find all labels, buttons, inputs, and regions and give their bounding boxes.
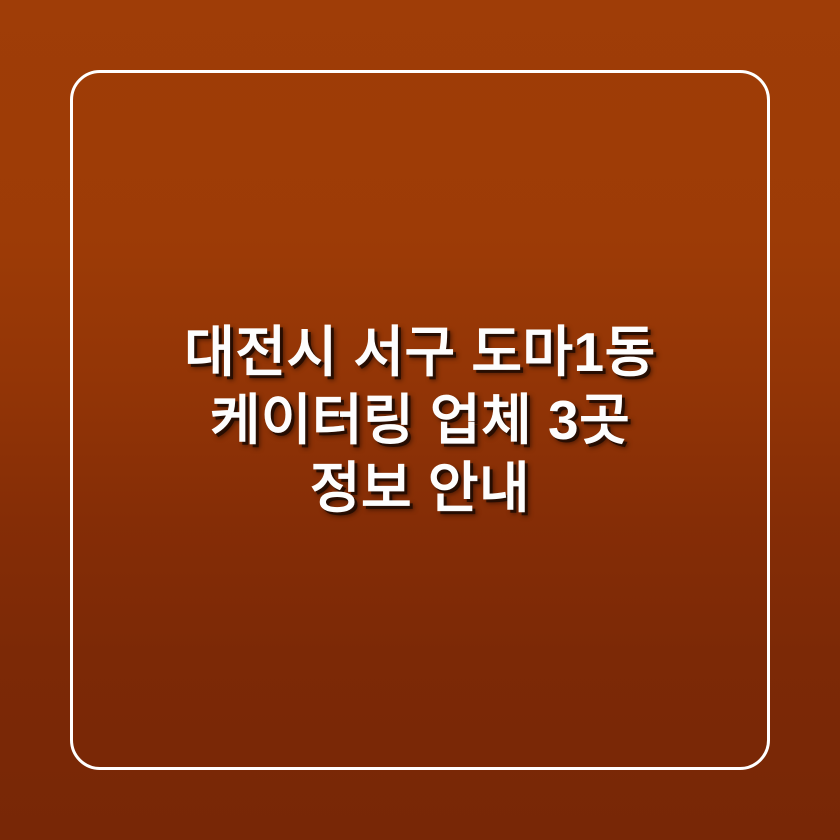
headline-line-1: 대전시 서구 도마1동 [110, 318, 730, 386]
headline-line-2: 케이터링 업체 3곳 [110, 386, 730, 454]
headline-line-3: 정보 안내 [110, 454, 730, 522]
poster-canvas: 대전시 서구 도마1동 케이터링 업체 3곳 정보 안내 [0, 0, 840, 840]
page-title: 대전시 서구 도마1동 케이터링 업체 3곳 정보 안내 [110, 318, 730, 522]
headline-container: 대전시 서구 도마1동 케이터링 업체 3곳 정보 안내 [0, 0, 840, 840]
